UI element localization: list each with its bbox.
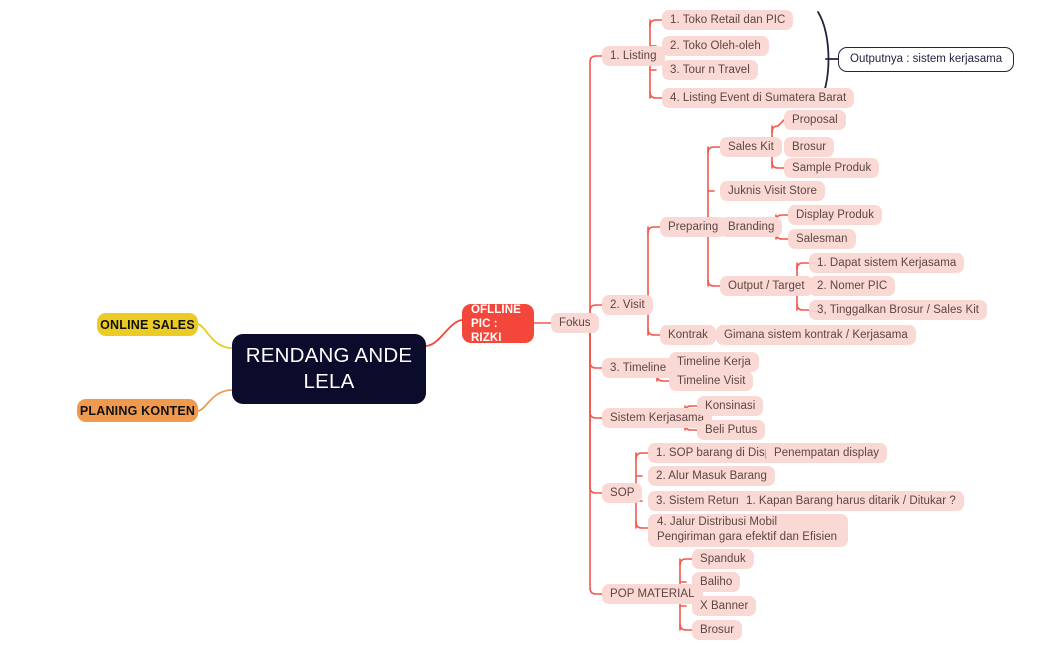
kontrak-detail[interactable]: Gimana sistem kontrak / Kerjasama	[716, 325, 916, 345]
sop-item-4[interactable]: 4. Jalur Distribusi Mobil Pengiriman gar…	[648, 514, 848, 547]
offline-line-2: PIC : RIZKI	[471, 317, 525, 345]
listing-item-3[interactable]: 3. Tour n Travel	[662, 60, 758, 80]
sales-kit-proposal[interactable]: Proposal	[784, 110, 846, 130]
root-label: RENDANG ANDE LELA	[232, 343, 426, 395]
output-target-item-3[interactable]: 3, Tinggalkan Brosur / Sales Kit	[809, 300, 987, 320]
listing-item-4[interactable]: 4. Listing Event di Sumatera Barat	[662, 88, 854, 108]
node-label: 1. Toko Retail dan PIC	[670, 13, 785, 27]
node-label: Gimana sistem kontrak / Kerjasama	[724, 328, 908, 342]
node-label: Spanduk	[700, 552, 746, 566]
mindmap-canvas: ONLINE SALES PLANING KONTEN RENDANG ANDE…	[0, 0, 1050, 650]
node-label: Kontrak	[668, 328, 708, 342]
node-label: Outputnya : sistem kerjasama	[850, 52, 1002, 66]
node-label: Timeline Visit	[677, 374, 745, 388]
pop-material-baliho[interactable]: Baliho	[692, 572, 740, 592]
node-label: Beli Putus	[705, 423, 757, 437]
node-planing-konten[interactable]: PLANING KONTEN	[77, 399, 198, 422]
node-label: Penempatan display	[774, 446, 879, 460]
sop-item-2[interactable]: 2. Alur Masuk Barang	[648, 466, 775, 486]
branch-visit[interactable]: 2. Visit	[602, 295, 653, 315]
branding-salesman[interactable]: Salesman	[788, 229, 856, 249]
node-label: 2. Visit	[610, 298, 645, 312]
node-label: Output / Target	[728, 279, 805, 293]
listing-item-1[interactable]: 1. Toko Retail dan PIC	[662, 10, 793, 30]
node-label: Timeline Kerja	[677, 355, 751, 369]
node-label: 1. Listing	[610, 49, 657, 63]
node-label: ONLINE SALES	[100, 318, 195, 332]
branch-pop-material[interactable]: POP MATERIAL	[602, 584, 703, 604]
node-label: Konsinasi	[705, 399, 755, 413]
preparing-sales-kit[interactable]: Sales Kit	[720, 137, 782, 157]
node-label: 3. Timeline	[610, 361, 666, 375]
branch-listing[interactable]: 1. Listing	[602, 46, 665, 66]
preparing-branding[interactable]: Branding	[720, 217, 782, 237]
node-label: Salesman	[796, 232, 848, 246]
node-label: PLANING KONTEN	[80, 404, 195, 418]
branch-timeline[interactable]: 3. Timeline	[602, 358, 674, 378]
node-label: 2. Nomer PIC	[817, 279, 887, 293]
visit-preparing[interactable]: Preparing	[660, 217, 726, 237]
preparing-output-target[interactable]: Output / Target	[720, 276, 813, 296]
node-label: 1. Kapan Barang harus ditarik / Ditukar …	[746, 494, 956, 508]
node-label: 3. Sistem Return	[656, 494, 742, 508]
node-offline-pic[interactable]: OFLLINE PIC : RIZKI	[462, 304, 534, 343]
sales-kit-brosur[interactable]: Brosur	[784, 137, 834, 157]
visit-kontrak[interactable]: Kontrak	[660, 325, 716, 345]
pop-material-x-banner[interactable]: X Banner	[692, 596, 756, 616]
timeline-kerja[interactable]: Timeline Kerja	[669, 352, 759, 372]
sop-item-3[interactable]: 3. Sistem Return	[648, 491, 750, 511]
root-node[interactable]: RENDANG ANDE LELA	[232, 334, 426, 404]
output-target-item-1[interactable]: 1. Dapat sistem Kerjasama	[809, 253, 964, 273]
node-label: 3, Tinggalkan Brosur / Sales Kit	[817, 303, 979, 317]
branding-display-produk[interactable]: Display Produk	[788, 205, 882, 225]
node-label: 4. Jalur Distribusi Mobil Pengiriman gar…	[657, 515, 839, 545]
sop-penempatan-display[interactable]: Penempatan display	[766, 443, 887, 463]
node-label: Preparing	[668, 220, 718, 234]
node-label: Sales Kit	[728, 140, 774, 154]
node-label: Sistem Kerjasama	[610, 411, 704, 425]
sales-kit-sample-produk[interactable]: Sample Produk	[784, 158, 879, 178]
timeline-visit[interactable]: Timeline Visit	[669, 371, 753, 391]
node-label: Brosur	[700, 623, 734, 637]
branch-sistem-kerjasama[interactable]: Sistem Kerjasama	[602, 408, 712, 428]
node-fokus[interactable]: Fokus	[551, 313, 599, 333]
node-label: Brosur	[792, 140, 826, 154]
node-label: Baliho	[700, 575, 732, 589]
node-label: Juknis Visit Store	[728, 184, 817, 198]
node-label: 2. Toko Oleh-oleh	[670, 39, 761, 53]
node-online-sales[interactable]: ONLINE SALES	[97, 313, 198, 336]
output-target-item-2[interactable]: 2. Nomer PIC	[809, 276, 895, 296]
node-label: Fokus	[559, 316, 591, 330]
sop-return-detail[interactable]: 1. Kapan Barang harus ditarik / Ditukar …	[738, 491, 964, 511]
node-label: Display Produk	[796, 208, 874, 222]
sistem-kerjasama-konsinasi[interactable]: Konsinasi	[697, 396, 763, 416]
callout-outputnya[interactable]: Outputnya : sistem kerjasama	[838, 47, 1014, 72]
node-label: Proposal	[792, 113, 838, 127]
node-label: Sample Produk	[792, 161, 871, 175]
node-label: 1. Dapat sistem Kerjasama	[817, 256, 956, 270]
offline-line-1: OFLLINE	[471, 303, 521, 317]
node-label: SOP	[610, 486, 634, 500]
node-label: X Banner	[700, 599, 748, 613]
node-label: 3. Tour n Travel	[670, 63, 750, 77]
pop-material-spanduk[interactable]: Spanduk	[692, 549, 754, 569]
sistem-kerjasama-beli-putus[interactable]: Beli Putus	[697, 420, 765, 440]
pop-material-brosur[interactable]: Brosur	[692, 620, 742, 640]
node-label: 4. Listing Event di Sumatera Barat	[670, 91, 846, 105]
listing-item-2[interactable]: 2. Toko Oleh-oleh	[662, 36, 769, 56]
preparing-juknis-visit-store[interactable]: Juknis Visit Store	[720, 181, 825, 201]
node-label: Branding	[728, 220, 774, 234]
branch-sop[interactable]: SOP	[602, 483, 642, 503]
node-label: 2. Alur Masuk Barang	[656, 469, 767, 483]
node-label: POP MATERIAL	[610, 587, 695, 601]
